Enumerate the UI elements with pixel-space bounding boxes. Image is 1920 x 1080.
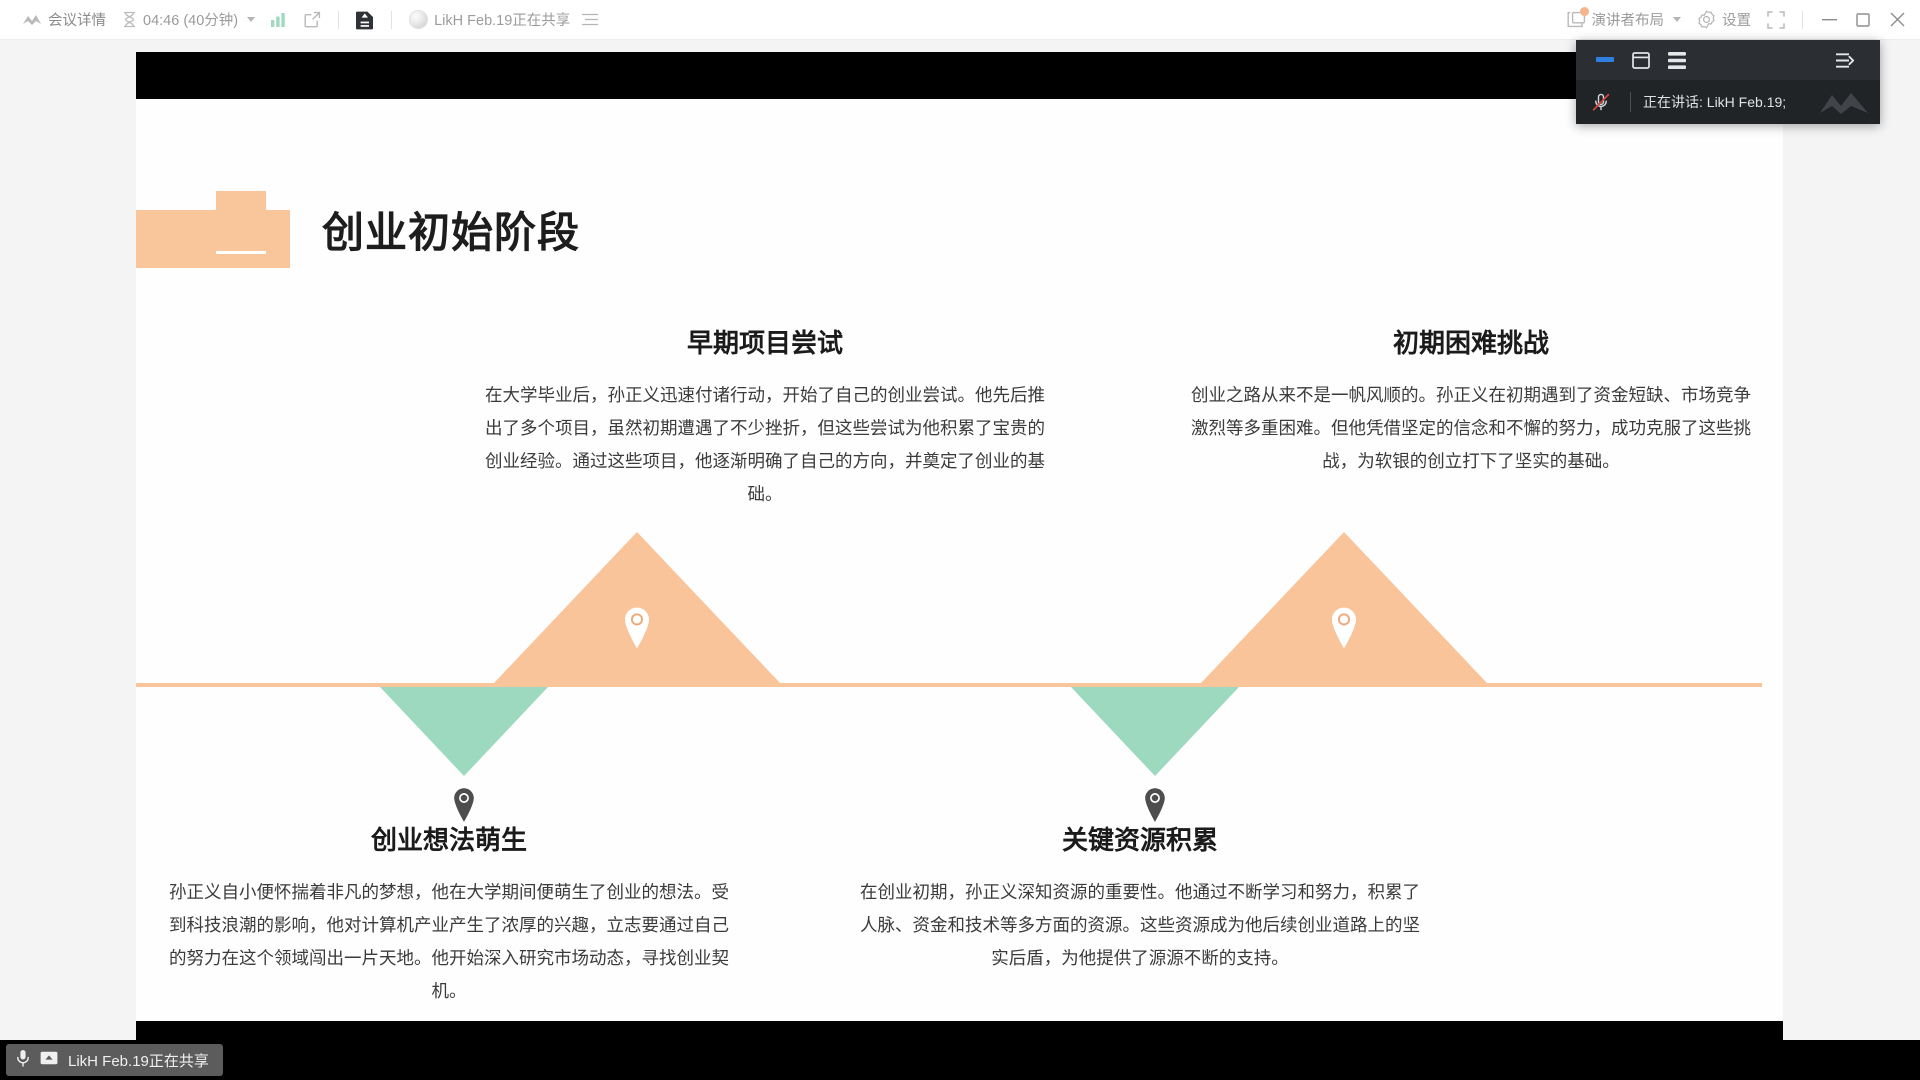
settings-label: 设置 xyxy=(1722,9,1751,30)
toolbar-divider-2 xyxy=(391,11,392,29)
content-block-early-project-attempt: 早期项目尝试 在大学毕业后，孙正义迅速付诸行动，开始了自己的创业尝试。他先后推出… xyxy=(485,329,1045,512)
bottom-status-bar: LikH Feb.19正在共享 xyxy=(0,1040,1920,1080)
pop-out-button[interactable] xyxy=(296,6,329,34)
block-body: 孙正义自小便怀揣着非凡的梦想，他在大学期间便萌生了创业的想法。受到科技浪潮的影响… xyxy=(169,877,729,1009)
title-decoration-tab xyxy=(216,191,266,254)
fullscreen-icon xyxy=(1767,11,1785,29)
block-body: 在创业初期，孙正义深知资源的重要性。他通过不断学习和努力，积累了人脉、资金和技术… xyxy=(860,877,1420,976)
presentation-slide: 创业初始阶段 xyxy=(136,99,1783,1021)
layout-icon xyxy=(1567,11,1586,28)
pop-out-icon xyxy=(304,11,321,28)
hourglass-icon xyxy=(122,11,137,28)
map-pin-icon-2 xyxy=(1327,606,1361,650)
meeting-timer-label: 04:46 (40分钟) xyxy=(143,9,238,30)
floating-control-overlay[interactable]: 正在讲话: LikH Feb.19; xyxy=(1576,40,1880,124)
meeting-logo-icon xyxy=(22,13,42,27)
current-sharer[interactable]: LikH Feb.19正在共享 xyxy=(401,6,606,34)
avatar xyxy=(409,10,428,29)
map-pin-icon-4 xyxy=(1141,787,1169,823)
screen-share-icon xyxy=(40,1051,58,1070)
network-quality-button[interactable] xyxy=(263,6,296,34)
content-block-key-resource-accumulation: 关键资源积累 在创业初期，孙正义深知资源的重要性。他通过不断学习和努力，积累了人… xyxy=(860,826,1420,976)
overlay-speaking-bar: 正在讲话: LikH Feb.19; xyxy=(1576,80,1880,124)
content-block-early-difficulties: 初期困难挑战 创业之路从来不是一帆风顺的。孙正义在初期遇到了资金短缺、市场竞争激… xyxy=(1191,329,1751,479)
block-body: 创业之路从来不是一帆风顺的。孙正义在初期遇到了资金短缺、市场竞争激烈等多重困难。… xyxy=(1191,380,1751,479)
notes-button[interactable] xyxy=(348,6,382,34)
sharing-status-label: LikH Feb.19正在共享 xyxy=(68,1050,209,1071)
current-sharer-label: LikH Feb.19正在共享 xyxy=(434,9,570,30)
block-body: 在大学毕业后，孙正义迅速付诸行动，开始了自己的创业尝试。他先后推出了多个项目，虽… xyxy=(485,380,1045,512)
block-heading: 初期困难挑战 xyxy=(1191,329,1751,360)
overlay-toolbar xyxy=(1576,40,1880,80)
window-divider xyxy=(1802,11,1803,29)
sharing-status-pill[interactable]: LikH Feb.19正在共享 xyxy=(6,1044,223,1076)
microphone-icon xyxy=(16,1049,30,1071)
speaker-layout-button[interactable]: 演讲者布局 xyxy=(1559,6,1690,34)
close-button[interactable] xyxy=(1880,6,1914,34)
shared-screen-stage: 创业初始阶段 xyxy=(0,40,1920,1080)
title-decoration xyxy=(136,191,290,268)
shared-screen-frame[interactable]: 创业初始阶段 xyxy=(136,52,1783,1068)
meeting-details-label: 会议详情 xyxy=(48,9,106,30)
overlay-restore-window-button[interactable] xyxy=(1626,46,1656,74)
green-triangle-down-2 xyxy=(1071,687,1239,776)
overlay-watermark-logo-icon xyxy=(1818,89,1870,120)
maximize-button[interactable] xyxy=(1846,6,1880,34)
overlay-divider xyxy=(1630,92,1631,112)
list-menu-icon[interactable] xyxy=(582,13,598,26)
speaker-layout-label: 演讲者布局 xyxy=(1592,9,1665,30)
speaking-status-label: 正在讲话: LikH Feb.19; xyxy=(1643,92,1786,112)
content-block-startup-idea-sprout: 创业想法萌生 孙正义自小便怀揣着非凡的梦想，他在大学期间便萌生了创业的想法。受到… xyxy=(169,826,729,1009)
microphone-muted-icon[interactable] xyxy=(1586,88,1616,116)
letterbox-top xyxy=(136,52,1783,99)
meeting-timer[interactable]: 04:46 (40分钟) xyxy=(114,6,263,34)
chevron-down-icon[interactable] xyxy=(247,17,255,22)
toolbar-divider xyxy=(338,11,339,29)
app-top-bar: 会议详情 04:46 (40分钟) xyxy=(0,0,1920,40)
fullscreen-button[interactable] xyxy=(1759,6,1793,34)
block-heading: 创业想法萌生 xyxy=(169,826,729,857)
notes-icon xyxy=(356,10,374,30)
title-decoration-base xyxy=(136,210,290,268)
block-heading: 早期项目尝试 xyxy=(485,329,1045,360)
chevron-down-icon-layout[interactable] xyxy=(1673,17,1681,22)
overlay-expand-panel-button[interactable] xyxy=(1830,46,1860,74)
map-pin-icon-3 xyxy=(450,787,478,823)
green-triangle-down-1 xyxy=(380,687,548,776)
minimize-button[interactable] xyxy=(1812,6,1846,34)
settings-button[interactable]: 设置 xyxy=(1689,6,1759,34)
page-title: 创业初始阶段 xyxy=(322,199,580,260)
map-pin-icon-1 xyxy=(620,606,654,650)
signal-bars-icon xyxy=(271,12,288,27)
meeting-details-button[interactable]: 会议详情 xyxy=(14,6,114,34)
presenter-badge xyxy=(1580,7,1589,16)
overlay-menu-button[interactable] xyxy=(1662,46,1692,74)
gear-icon xyxy=(1697,10,1716,29)
overlay-minimize-button[interactable] xyxy=(1590,46,1620,74)
block-heading: 关键资源积累 xyxy=(860,826,1420,857)
